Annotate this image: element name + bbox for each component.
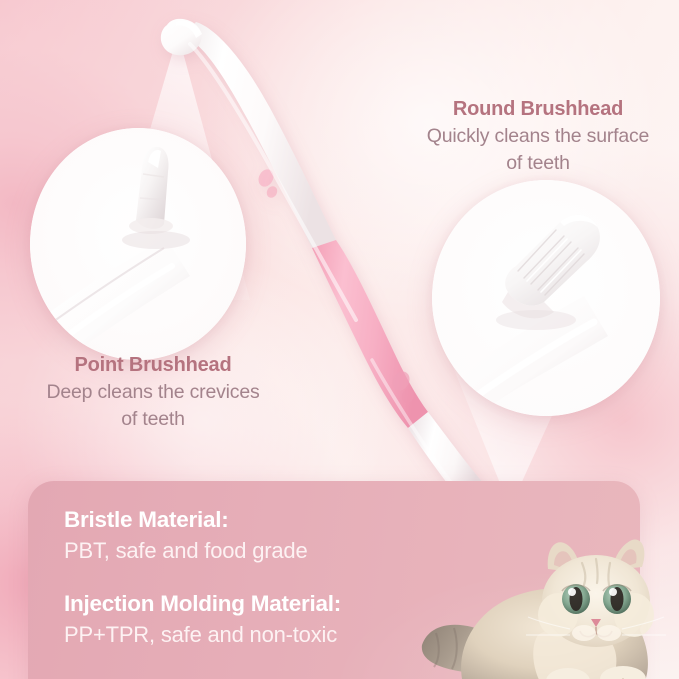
- callout-round-title: Round Brushhead: [404, 96, 672, 122]
- spec-item-bristle-material: Bristle Material: PBT, safe and food gra…: [64, 505, 504, 565]
- infographic-canvas: Round Brushhead Quickly cleans the surfa…: [0, 0, 679, 679]
- callout-point-description-line2: of teeth: [8, 407, 298, 432]
- material-spec-panel: Bristle Material: PBT, safe and food gra…: [28, 481, 640, 679]
- spec-value-bristle-material: PBT, safe and food grade: [64, 536, 504, 565]
- spec-item-injection-molding-material: Injection Molding Material: PP+TPR, safe…: [64, 589, 504, 649]
- callout-round-brushhead: Round Brushhead Quickly cleans the surfa…: [404, 96, 672, 175]
- spec-label-injection-molding-material: Injection Molding Material:: [64, 589, 504, 619]
- spec-list: Bristle Material: PBT, safe and food gra…: [64, 505, 504, 649]
- callout-round-description-line2: of teeth: [404, 151, 672, 176]
- callout-round-description-line1: Quickly cleans the surface: [404, 124, 672, 149]
- spec-value-injection-molding-material: PP+TPR, safe and non-toxic: [64, 620, 504, 649]
- spec-label-bristle-material: Bristle Material:: [64, 505, 504, 535]
- callout-point-description-line1: Deep cleans the crevices: [8, 380, 298, 405]
- point-brushhead-lens: [30, 128, 246, 360]
- callout-point-brushhead: Point Brushhead Deep cleans the crevices…: [8, 352, 298, 431]
- callout-point-title: Point Brushhead: [8, 352, 298, 378]
- round-brushhead-lens: [432, 180, 660, 416]
